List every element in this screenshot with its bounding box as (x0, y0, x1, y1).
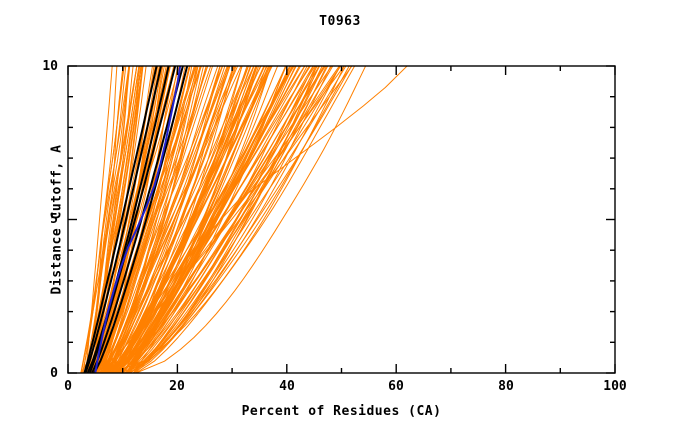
chart-figure: T0963 Distance Cutoff, A Percent of Resi… (0, 0, 680, 440)
x-tick-label-60: 60 (376, 379, 416, 394)
x-tick-label-100: 100 (595, 379, 635, 394)
y-tick-label-10: 10 (22, 59, 58, 74)
x-tick-label-20: 20 (157, 379, 197, 394)
y-tick-label-5: 5 (22, 212, 58, 227)
curve-layer (81, 66, 407, 373)
x-tick-label-80: 80 (486, 379, 526, 394)
x-tick-label-40: 40 (267, 379, 307, 394)
page-title: T0963 (0, 14, 680, 29)
x-tick-label-0: 0 (48, 379, 88, 394)
x-axis-label: Percent of Residues (CA) (68, 404, 615, 419)
plot-canvas (0, 0, 680, 440)
